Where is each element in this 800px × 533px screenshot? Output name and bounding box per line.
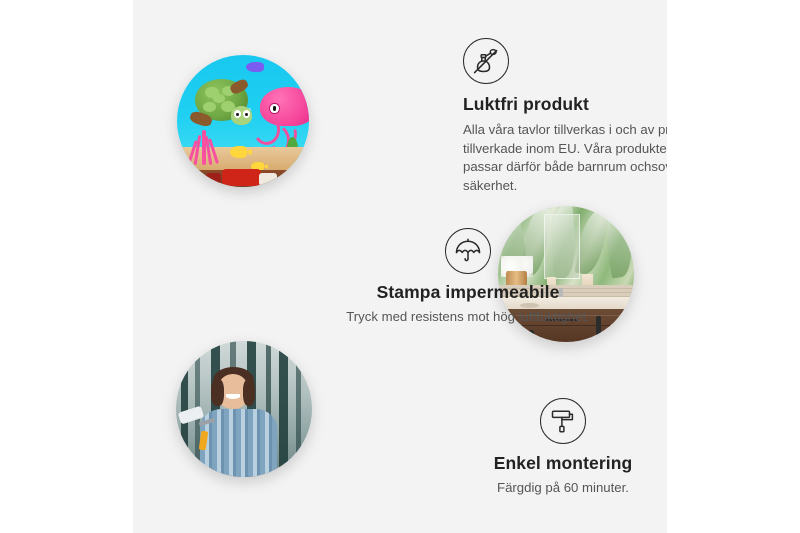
feature-body: Tryck med resistens mot hög luftfuktighe…: [323, 308, 613, 327]
feature-assembly: Enkel montering Färgdig på 60 minuter.: [433, 398, 667, 498]
umbrella-icon: [445, 228, 491, 274]
ocean-object: [206, 173, 221, 185]
octopus-eye: [269, 103, 280, 115]
content-panel: Luktfri produkt Alla våra tavlor tillver…: [133, 0, 667, 533]
person-hair: [211, 379, 223, 406]
person-hair: [243, 379, 255, 406]
promo-graphic: Luktfri produkt Alla våra tavlor tillver…: [0, 0, 800, 533]
yellow-fish-icon: [230, 146, 247, 158]
ocean-illustration: [177, 55, 309, 187]
door-handle: [529, 330, 533, 341]
ocean-object: [222, 169, 262, 186]
feature-title: Stampa impermeabile: [323, 282, 613, 304]
feature-odourless: Luktfri produkt Alla våra tavlor tillver…: [463, 38, 667, 196]
photo-forest: [176, 341, 312, 477]
feature-title: Luktfri produkt: [463, 94, 667, 116]
feature-body: Färgdig på 60 minuter.: [433, 479, 667, 498]
shell-spot: [203, 102, 216, 112]
photo-ocean: [177, 55, 309, 187]
coral-icon: [188, 130, 222, 164]
ocean-object: [259, 173, 277, 186]
purple-fish-icon: [246, 62, 264, 73]
no-perfume-icon: [463, 38, 509, 84]
forest-scene: [176, 341, 312, 477]
paint-roller-icon: [540, 398, 586, 444]
feature-title: Enkel montering: [433, 453, 667, 475]
feature-waterproof: Stampa impermeabile Tryck med resistens …: [323, 228, 613, 327]
feature-body: Alla våra tavlor tillverkas i och av pro…: [463, 121, 667, 196]
